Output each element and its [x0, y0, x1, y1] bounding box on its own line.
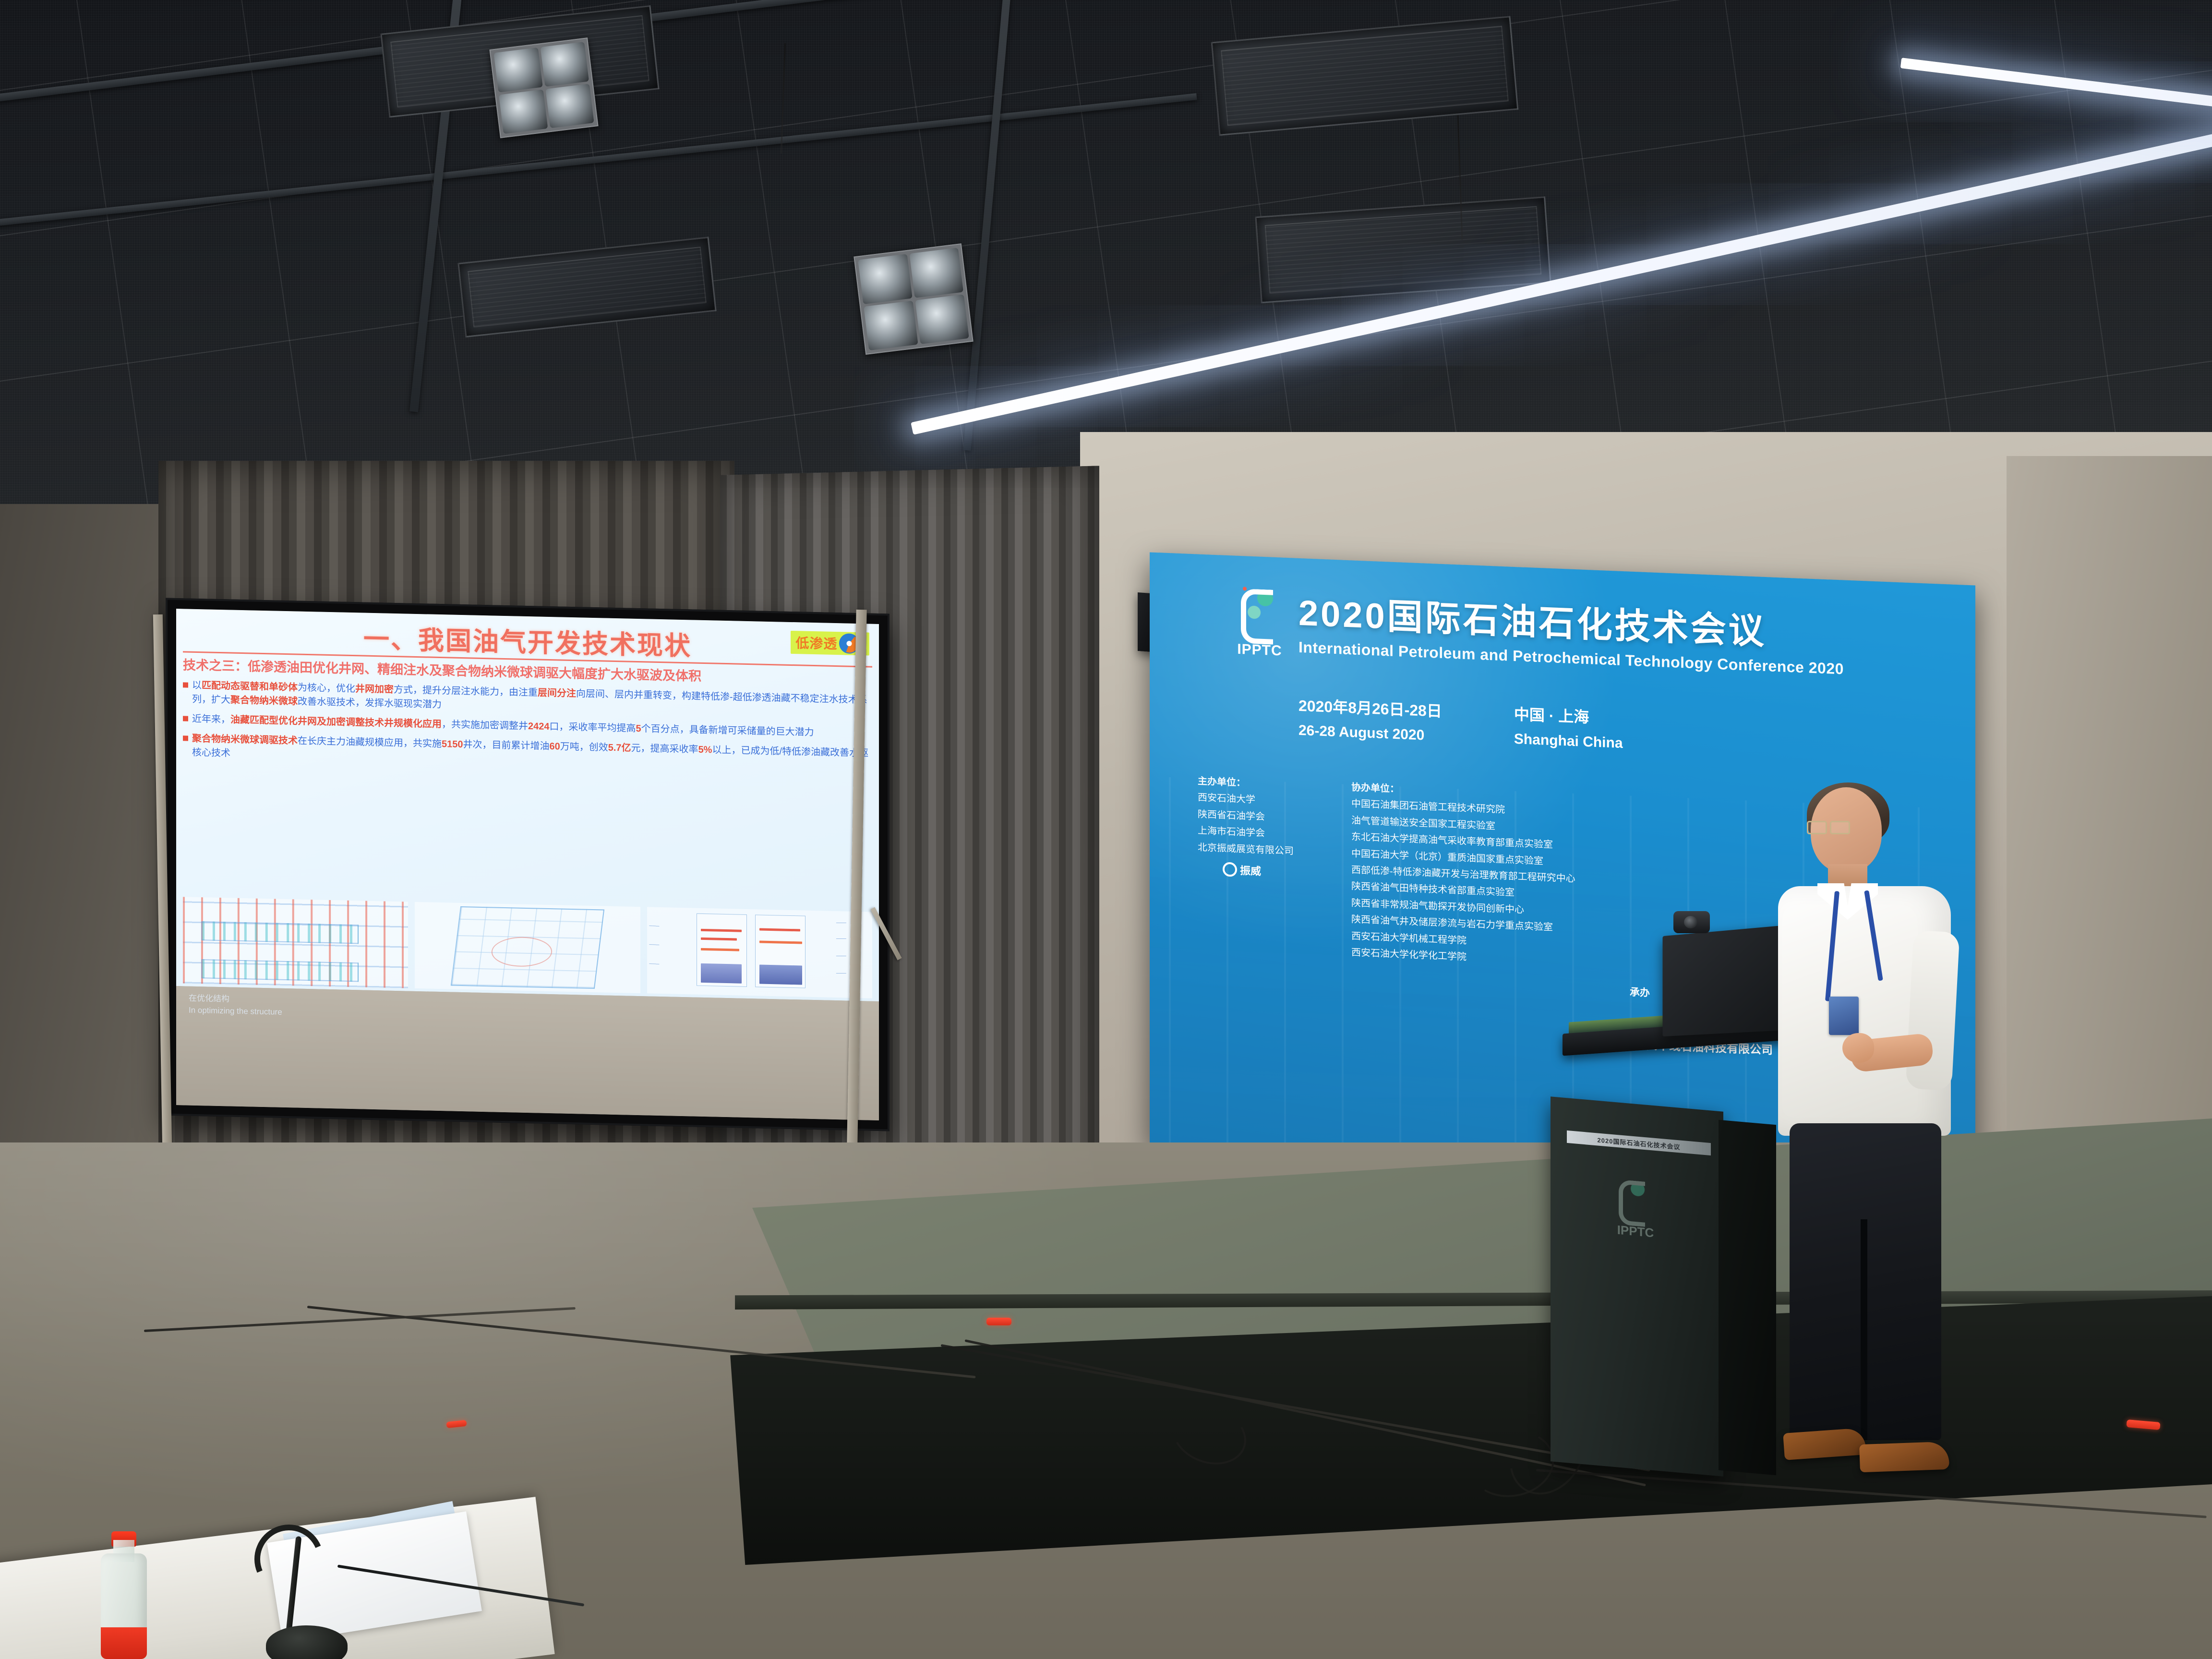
- organizer-item: 北京振威展览有限公司: [1198, 839, 1294, 859]
- glasses-icon: [1807, 821, 1848, 831]
- cable-connector: [986, 1318, 1011, 1325]
- presenter-hand: [1842, 1033, 1874, 1063]
- spotlight-icon: [854, 243, 973, 355]
- place-cn: 中国 · 上海: [1514, 702, 1623, 729]
- projection-screen: 一、我国油气开发技术现状 低渗透 ] 技术之三：低渗透油田优化井网、精细注水及聚…: [166, 598, 890, 1131]
- bullet-segment: ，共实施加密调整井: [442, 719, 528, 732]
- lamp-bulb: [864, 301, 918, 350]
- bullet-segment: 口，采收率平均提高: [550, 721, 636, 734]
- podium: 2020国际石油石化技术会议 IPPTC: [1551, 1080, 1776, 1479]
- presenter-shoe: [1783, 1428, 1866, 1460]
- glasses-lens: [1830, 821, 1850, 834]
- lamp-bulb: [499, 89, 548, 134]
- reservoir-profile-chart: ——— ——— ——— ——— ——— ——— ———: [647, 907, 872, 998]
- lamp-bulb: [858, 254, 912, 304]
- screen-surface: 一、我国油气开发技术现状 低渗透 ] 技术之三：低渗透油田优化井网、精细注水及聚…: [176, 609, 879, 1120]
- ipptc-logo-icon: IPPTC: [1231, 582, 1288, 666]
- trouser-seam: [1861, 1219, 1867, 1440]
- bullet-segment: 5: [636, 723, 641, 734]
- diamond-grid-diagram: [415, 902, 640, 993]
- screen-blank-area: 在优化结构 In optimizing the structure: [176, 986, 879, 1120]
- co-organizer-column: 协办单位： 中国石油集团石油管工程技术研究院 油气管道输送安全国家工程实验室 东…: [1351, 779, 1575, 970]
- chart-block: [759, 965, 802, 985]
- bullet-segment: 井网加密: [355, 684, 394, 695]
- screen-footer: 在优化结构 In optimizing the structure: [189, 992, 282, 1018]
- glasses-lens: [1807, 821, 1827, 834]
- lamp-bulb: [909, 248, 963, 298]
- bullet-marker-icon: [183, 736, 188, 741]
- zhenwei-logo-icon: 振威: [1223, 862, 1294, 880]
- spotlight-icon: [489, 37, 598, 138]
- bullet-segment: 元，提高采收率: [631, 743, 698, 755]
- ipptc-logo-text: IPPTC: [1231, 641, 1288, 660]
- zhenwei-logo-text: 振威: [1240, 862, 1261, 878]
- bullet-marker-icon: [183, 716, 188, 721]
- presenter-arm: [1905, 930, 1960, 1091]
- well-pattern-diagram: [183, 897, 408, 988]
- backdrop-place: 中国 · 上海 Shanghai China: [1514, 702, 1623, 752]
- lamp-bulb: [540, 42, 589, 86]
- bullet-segment: 以: [192, 680, 202, 691]
- place-en: Shanghai China: [1514, 731, 1623, 752]
- bullet-segment: 在长庆主力油藏规模应用，共实施: [298, 736, 442, 750]
- backdrop-meta: 2020年8月26日-28日 26-28 August 2020 中国 · 上海…: [1298, 694, 1947, 765]
- bullet-segment: 改善水驱技术，发挥水驱现实潜力: [298, 697, 442, 710]
- bullet-segment: 2424: [528, 721, 550, 732]
- podium-logo-text: IPPTC: [1604, 1221, 1667, 1241]
- bullet-segment: 60: [550, 741, 560, 752]
- bullet-segment: 匹配动态驱替和单砂体: [202, 680, 298, 693]
- bullet-segment: 个百分点，具备新增可采储量的巨大潜力: [641, 723, 814, 738]
- bottle-label: [101, 1627, 147, 1659]
- name-badge: [1829, 997, 1859, 1035]
- bullet-segment: 聚合物纳米微球: [230, 695, 298, 707]
- lamp-bulb: [493, 48, 542, 92]
- mic-base: [266, 1625, 348, 1659]
- bullet-marker-icon: [183, 683, 188, 688]
- bullet-segment: 井次，目前累计增油: [463, 739, 550, 752]
- podium-logo-mark: [1613, 1174, 1654, 1224]
- ring-icon: [1223, 862, 1237, 877]
- conference-hall-photo: 一、我国油气开发技术现状 低渗透 ] 技术之三：低渗透油田优化井网、精细注水及聚…: [0, 0, 2212, 1659]
- backdrop-header: IPPTC 2020国际石油石化技术会议 International Petro…: [1231, 580, 1947, 693]
- bullet-segment: 聚合物纳米微球调驱技术: [192, 733, 298, 746]
- podium-logo-icon: IPPTC: [1604, 1173, 1667, 1250]
- bullet-segment: 层间分注: [538, 688, 576, 699]
- slide-figure-row: ——— ——— ——— ——— ——— ——— ———: [183, 897, 872, 998]
- bullet-segment: 为核心，优化: [298, 683, 355, 695]
- webcam-icon: [1673, 911, 1710, 933]
- date-en: 26-28 August 2020: [1298, 722, 1442, 745]
- bullet-segment: 万吨，创效: [560, 742, 608, 753]
- water-bottle-icon: [101, 1531, 147, 1659]
- bullet-segment: 近年来，: [192, 714, 230, 725]
- backdrop-date: 2020年8月26日-28日 26-28 August 2020: [1298, 694, 1442, 745]
- badge-label: 低渗透: [795, 633, 837, 653]
- organizer-column: 主办单位： 西安石油大学 陕西省石油学会 上海市石油学会 北京振威展览有限公司 …: [1198, 773, 1294, 958]
- presenter: [1757, 787, 1978, 1479]
- date-cn: 2020年8月26日-28日: [1298, 694, 1442, 721]
- gooseneck-microphone-icon[interactable]: [250, 1536, 355, 1659]
- presenter-shoe: [1859, 1442, 1949, 1472]
- chart-block: [701, 963, 741, 983]
- host-label: 承办: [1630, 985, 1650, 1000]
- footer-line-en: In optimizing the structure: [189, 1004, 282, 1019]
- lamp-bulb: [545, 84, 594, 128]
- lamp-bulb: [915, 294, 969, 344]
- presentation-slide: 一、我国油气开发技术现状 低渗透 ] 技术之三：低渗透油田优化井网、精细注水及聚…: [176, 609, 879, 1001]
- bullet-segment: 方式，提升分层注水能力，由注重: [394, 685, 538, 698]
- bullet-segment: 5.7亿: [608, 743, 631, 754]
- slide-bullet-list: 以匹配动态驱替和单砂体为核心，优化井网加密方式，提升分层注水能力，由注重层间分注…: [183, 679, 872, 775]
- bullet-segment: 5150: [442, 739, 463, 750]
- bullet-segment: 5%: [698, 745, 712, 756]
- bullet-segment: 油藏匹配型优化井网及加密调整技术井规模化应用: [230, 715, 442, 730]
- ipptc-mark: [1234, 583, 1284, 640]
- slide-title: 一、我国油气开发技术现状: [363, 617, 692, 662]
